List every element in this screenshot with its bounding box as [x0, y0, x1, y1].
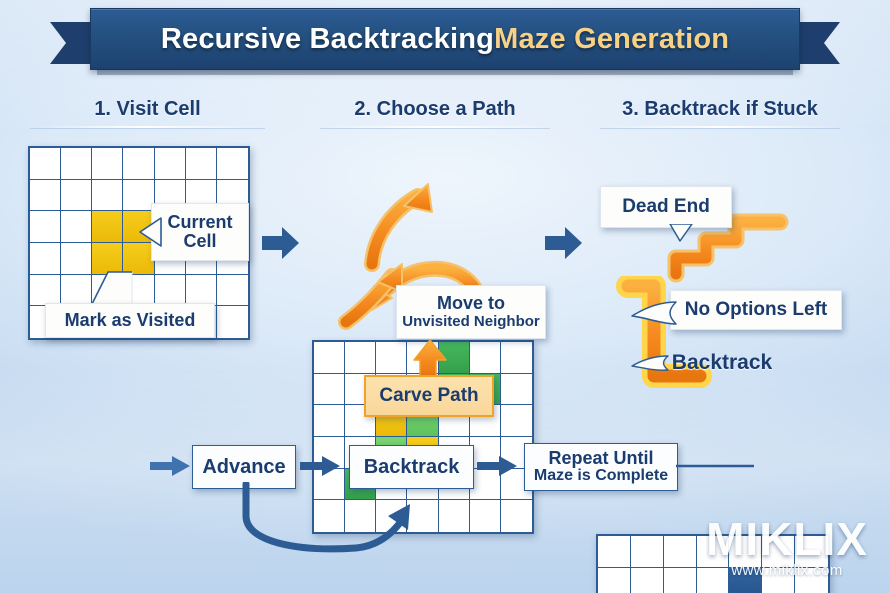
- maze-cell[interactable]: [631, 568, 664, 593]
- callout-current-cell-line1: Current: [167, 213, 232, 232]
- callout-backtrack-label-text: Backtrack: [672, 352, 772, 375]
- maze-cell[interactable]: [664, 536, 697, 568]
- flow-loop-arrow-icon: [238, 482, 438, 560]
- maze-cell[interactable]: [314, 342, 345, 374]
- maze-cell[interactable]: [123, 180, 154, 212]
- carve-path-badge-label: Carve Path: [379, 385, 478, 407]
- maze-cell[interactable]: [470, 500, 501, 532]
- carve-path-pointer-icon: [412, 338, 452, 380]
- maze-cell[interactable]: [61, 148, 92, 180]
- panel-3-rule: [600, 126, 839, 128]
- title-banner: Recursive Backtracking Maze Generation: [50, 8, 840, 70]
- callout-current-cell: Current Cell: [151, 203, 249, 261]
- callout-mark-as-visited-text: Mark as Visited: [65, 311, 196, 330]
- callout-current-cell-line2: Cell: [183, 232, 216, 251]
- callout-move-to-unvisited-neighbor: Move to Unvisited Neighbor: [396, 285, 546, 339]
- panel-1-rule: [30, 126, 265, 128]
- maze-cell[interactable]: [30, 211, 61, 243]
- maze-cell[interactable]: [123, 148, 154, 180]
- maze-cell[interactable]: [92, 211, 123, 243]
- maze-cell[interactable]: [92, 180, 123, 212]
- maze-cell[interactable]: [501, 405, 532, 437]
- maze-cell[interactable]: [501, 342, 532, 374]
- callout-backtrack-label: Backtrack: [662, 348, 782, 378]
- flow-arrow-1-to-2-icon: [262, 226, 300, 260]
- maze-cell[interactable]: [30, 180, 61, 212]
- callout-no-options-pointer: [630, 296, 678, 328]
- panel-2-heading: 2. Choose a Path: [310, 98, 560, 121]
- flow-step-advance-label: Advance: [202, 457, 285, 478]
- maze-cell[interactable]: [664, 568, 697, 593]
- callout-move-line2: Unvisited Neighbor: [402, 314, 540, 330]
- watermark-brand: MIKLIX: [706, 512, 868, 566]
- maze-cell[interactable]: [439, 500, 470, 532]
- maze-cell[interactable]: [186, 275, 217, 307]
- flow-arrow-backtrack-to-repeat-icon: [477, 455, 519, 477]
- page-title-accent: Maze Generation: [494, 23, 729, 56]
- maze-cell[interactable]: [217, 148, 248, 180]
- infographic-canvas: Recursive Backtracking Maze Generation 1…: [0, 0, 890, 593]
- maze-cell[interactable]: [501, 500, 532, 532]
- page-title-primary: Recursive Backtracking: [161, 23, 494, 56]
- panel-backtrack-if-stuck: 3. Backtrack if Stuck: [590, 98, 850, 128]
- maze-cell[interactable]: [155, 275, 186, 307]
- maze-cell[interactable]: [217, 306, 248, 338]
- callout-dead-end: Dead End: [600, 186, 732, 228]
- maze-cell[interactable]: [314, 405, 345, 437]
- maze-cell[interactable]: [501, 374, 532, 406]
- flow-entry-arrow-icon: [150, 455, 192, 477]
- maze-cell[interactable]: [376, 342, 407, 374]
- callout-backtrack-pointer: [630, 352, 670, 374]
- panel-visit-cell: 1. Visit Cell: [20, 98, 275, 128]
- flow-arrow-advance-to-backtrack-icon: [300, 455, 342, 477]
- flow-exit-line: [676, 460, 756, 472]
- flow-arrow-2-to-3-icon: [545, 226, 583, 260]
- maze-cell[interactable]: [598, 536, 631, 568]
- maze-cell[interactable]: [92, 148, 123, 180]
- panel-choose-path: 2. Choose a Path: [310, 98, 560, 128]
- callout-dead-end-pointer: [668, 224, 694, 242]
- callout-current-cell-pointer: [136, 216, 162, 248]
- panel-3-heading: 3. Backtrack if Stuck: [590, 98, 850, 121]
- maze-cell[interactable]: [217, 275, 248, 307]
- flow-step-repeat-line2: Maze is Complete: [534, 468, 668, 485]
- watermark: MIKLIX www.miklix.com: [706, 512, 868, 579]
- maze-cell[interactable]: [598, 568, 631, 593]
- maze-cell[interactable]: [30, 148, 61, 180]
- maze-cell[interactable]: [155, 148, 186, 180]
- maze-cell[interactable]: [61, 180, 92, 212]
- callout-move-line1: Move to: [437, 294, 505, 313]
- maze-cell[interactable]: [631, 536, 664, 568]
- flow-step-repeat-line1: Repeat Until: [548, 449, 653, 468]
- maze-cell[interactable]: [61, 211, 92, 243]
- watermark-url: www.miklix.com: [706, 562, 868, 579]
- callout-dead-end-text: Dead End: [622, 197, 710, 218]
- flow-step-repeat[interactable]: Repeat Until Maze is Complete: [524, 443, 678, 491]
- callout-no-options-left: No Options Left: [670, 290, 842, 330]
- panel-2-rule: [320, 126, 550, 128]
- title-ribbon: Recursive Backtracking Maze Generation: [90, 8, 800, 70]
- panel-1-heading: 1. Visit Cell: [20, 98, 275, 121]
- carve-path-badge[interactable]: Carve Path: [364, 375, 494, 417]
- maze-cell[interactable]: [30, 243, 61, 275]
- callout-no-options-left-text: No Options Left: [685, 300, 827, 321]
- maze-cell[interactable]: [30, 275, 61, 307]
- flow-step-backtrack-label: Backtrack: [364, 457, 460, 478]
- maze-cell[interactable]: [345, 342, 376, 374]
- maze-cell[interactable]: [314, 374, 345, 406]
- maze-cell[interactable]: [186, 148, 217, 180]
- maze-cell[interactable]: [470, 342, 501, 374]
- callout-mark-as-visited: Mark as Visited: [45, 303, 215, 338]
